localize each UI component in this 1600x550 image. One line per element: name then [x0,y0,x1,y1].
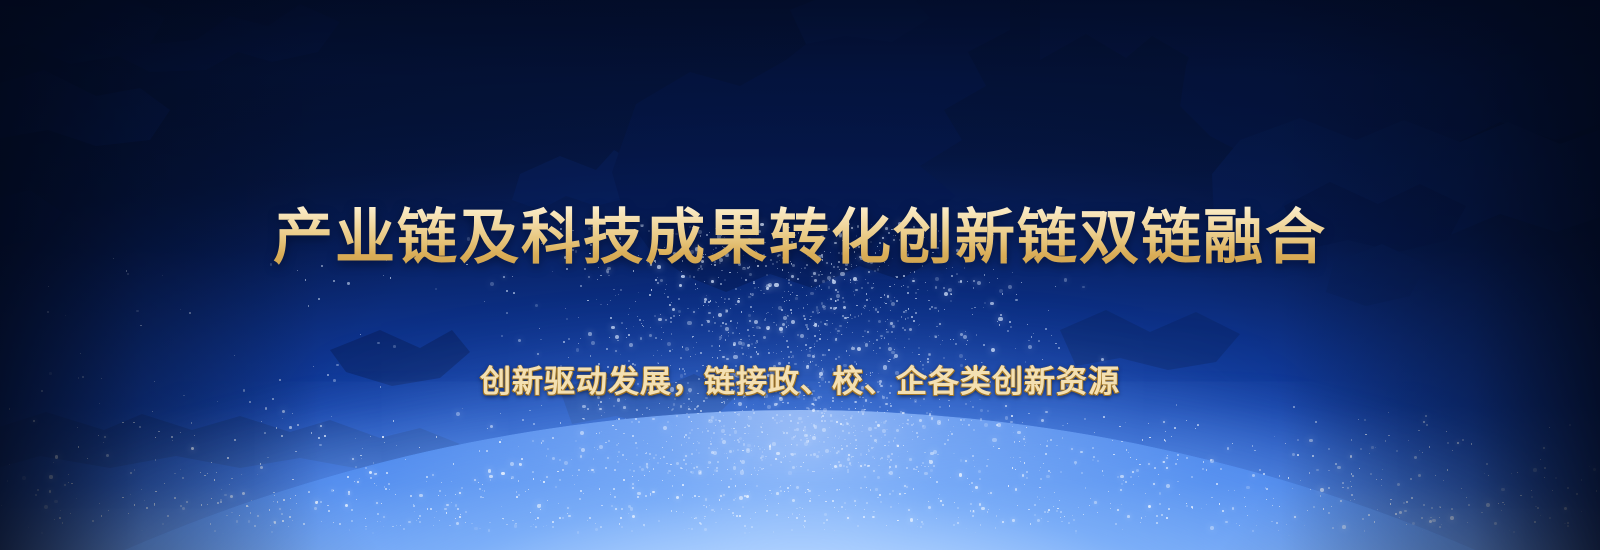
hero-banner: 产业链及科技成果转化创新链双链融合 创新驱动发展，链接政、校、企各类创新资源 [0,0,1600,550]
text-stack: 产业链及科技成果转化创新链双链融合 创新驱动发展，链接政、校、企各类创新资源 [0,0,1600,550]
page-subtitle: 创新驱动发展，链接政、校、企各类创新资源 [0,361,1600,403]
page-title: 产业链及科技成果转化创新链双链融合 [0,205,1600,271]
